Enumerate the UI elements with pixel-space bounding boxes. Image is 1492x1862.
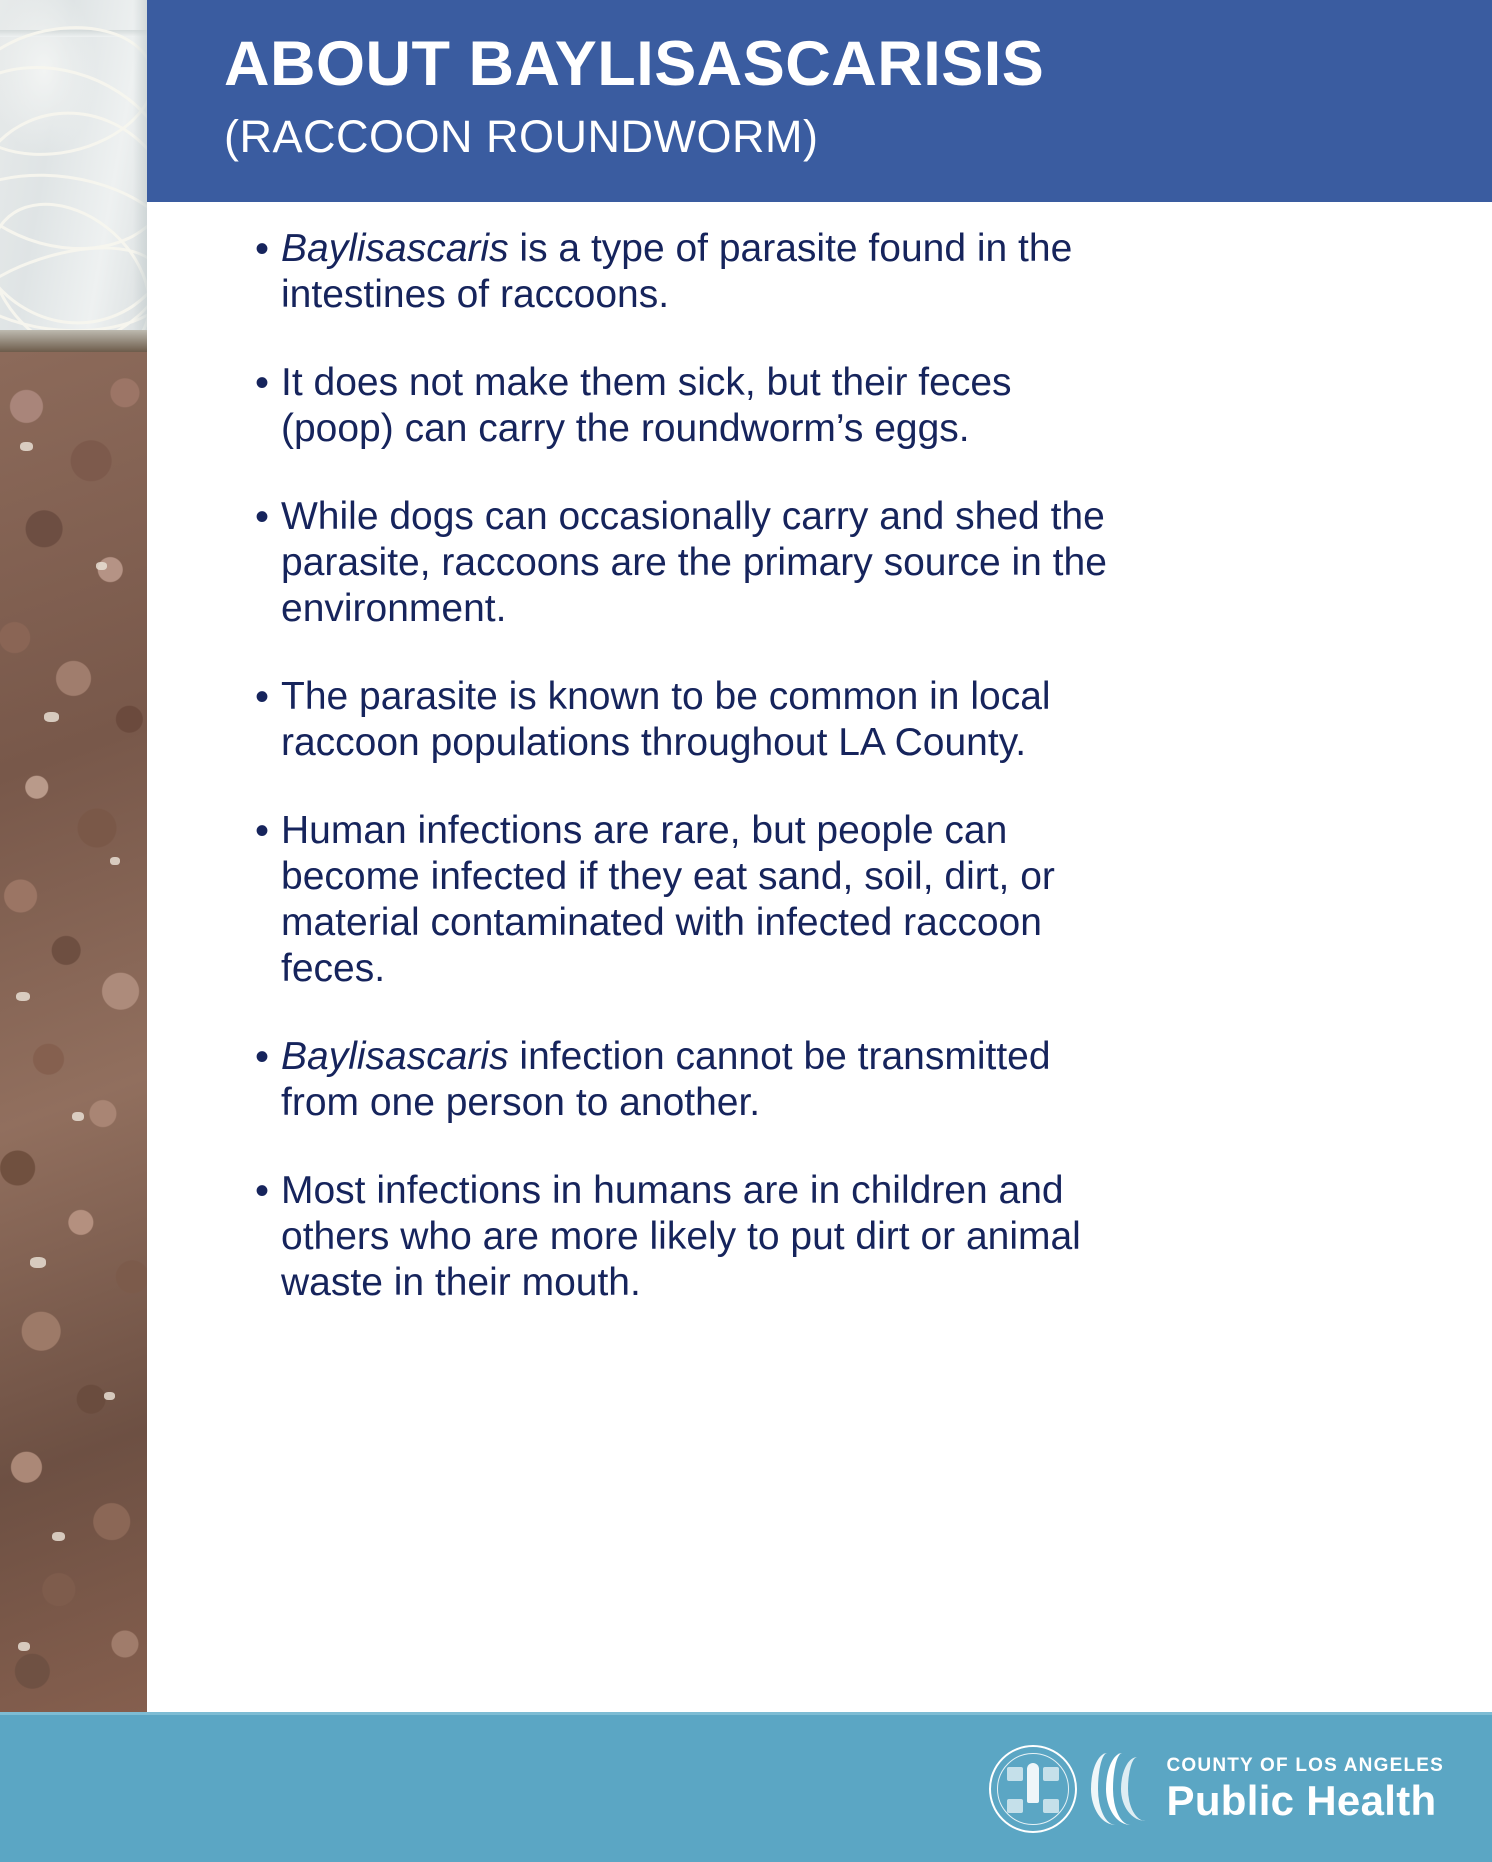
- soil-speck: [104, 1392, 115, 1400]
- page-footer: COUNTY OF LOS ANGELES Public Health: [0, 1712, 1492, 1862]
- soil-speck: [30, 1257, 46, 1268]
- page-subtitle: (RACCOON ROUNDWORM): [224, 114, 818, 159]
- soil-speck: [72, 1112, 84, 1121]
- bullet-common-in-la-county: •The parasite is known to be common in l…: [255, 674, 1115, 766]
- bullet-marker-icon: •: [255, 494, 281, 540]
- soil-speck: [16, 992, 30, 1001]
- infographic-page: ABOUT BAYLISASCARISIS (RACCOON ROUNDWORM…: [0, 0, 1492, 1862]
- species-name: Baylisascaris: [281, 227, 509, 270]
- bullet-marker-icon: •: [255, 360, 281, 406]
- soil-speck: [110, 857, 120, 865]
- soil-ground-photo: [0, 352, 147, 1712]
- roundworms-in-jar-photo: [0, 0, 147, 352]
- bullet-text-segment: While dogs can occasionally carry and sh…: [281, 495, 1107, 630]
- jar-glass-edge: [133, 0, 147, 352]
- soil-speck: [52, 1532, 65, 1541]
- bullet-marker-icon: •: [255, 226, 281, 272]
- bullet-text: The parasite is known to be common in lo…: [281, 674, 1115, 766]
- seal-quadrant: [1007, 1799, 1023, 1813]
- seal-quadrant: [1043, 1767, 1059, 1781]
- content-area: •Baylisascaris is a type of parasite fou…: [147, 202, 1492, 1712]
- bullet-marker-icon: •: [255, 1034, 281, 1080]
- bullet-marker-icon: •: [255, 674, 281, 720]
- bullet-no-person-to-person: •Baylisascaris infection cannot be trans…: [255, 1034, 1115, 1126]
- soil-speck: [20, 442, 33, 451]
- bullet-children-most-affected: •Most infections in humans are in childr…: [255, 1168, 1115, 1306]
- bullet-parasite-definition: •Baylisascaris is a type of parasite fou…: [255, 226, 1115, 318]
- jar-base: [0, 330, 147, 352]
- bullet-text: Most infections in humans are in childre…: [281, 1168, 1115, 1306]
- seal-inner-detail: [1007, 1761, 1059, 1817]
- seal-quadrant: [1007, 1767, 1023, 1781]
- bullet-text: Baylisascaris is a type of parasite foun…: [281, 226, 1115, 318]
- soil-speck: [96, 562, 107, 570]
- bullet-text-segment: It does not make them sick, but their fe…: [281, 361, 1012, 450]
- bullet-text: Baylisascaris infection cannot be transm…: [281, 1034, 1115, 1126]
- seal-figure-icon: [1027, 1763, 1039, 1803]
- bullet-feces-carry-eggs: •It does not make them sick, but their f…: [255, 360, 1115, 452]
- public-health-faces-icon: [1091, 1747, 1153, 1831]
- page-header: ABOUT BAYLISASCARISIS (RACCOON ROUNDWORM…: [147, 0, 1492, 202]
- bullet-dogs-vs-raccoons: •While dogs can occasionally carry and s…: [255, 494, 1115, 632]
- lacounty-public-health-logo: COUNTY OF LOS ANGELES Public Health: [989, 1745, 1445, 1833]
- logo-public-health-line: Public Health: [1167, 1780, 1445, 1822]
- bullet-text: Human infections are rare, but people ca…: [281, 808, 1115, 992]
- left-photo-strip: [0, 0, 147, 1712]
- seal-quadrant: [1043, 1799, 1059, 1813]
- soil-speck: [18, 1642, 30, 1651]
- bullet-marker-icon: •: [255, 808, 281, 854]
- county-seal-icon: [989, 1745, 1077, 1833]
- logo-text-block: COUNTY OF LOS ANGELES Public Health: [1167, 1756, 1445, 1822]
- bullet-text-segment: Most infections in humans are in childre…: [281, 1169, 1081, 1304]
- bullet-human-infections-rare: •Human infections are rare, but people c…: [255, 808, 1115, 992]
- logo-county-line: COUNTY OF LOS ANGELES: [1167, 1756, 1445, 1775]
- page-title: ABOUT BAYLISASCARISIS: [224, 33, 1044, 96]
- bullet-text: While dogs can occasionally carry and sh…: [281, 494, 1115, 632]
- fact-bullet-list: •Baylisascaris is a type of parasite fou…: [255, 226, 1115, 1348]
- bullet-text: It does not make them sick, but their fe…: [281, 360, 1115, 452]
- bullet-text-segment: Human infections are rare, but people ca…: [281, 809, 1055, 990]
- bullet-text-segment: The parasite is known to be common in lo…: [281, 675, 1051, 764]
- species-name: Baylisascaris: [281, 1035, 509, 1078]
- bullet-marker-icon: •: [255, 1168, 281, 1214]
- soil-speck: [44, 712, 59, 722]
